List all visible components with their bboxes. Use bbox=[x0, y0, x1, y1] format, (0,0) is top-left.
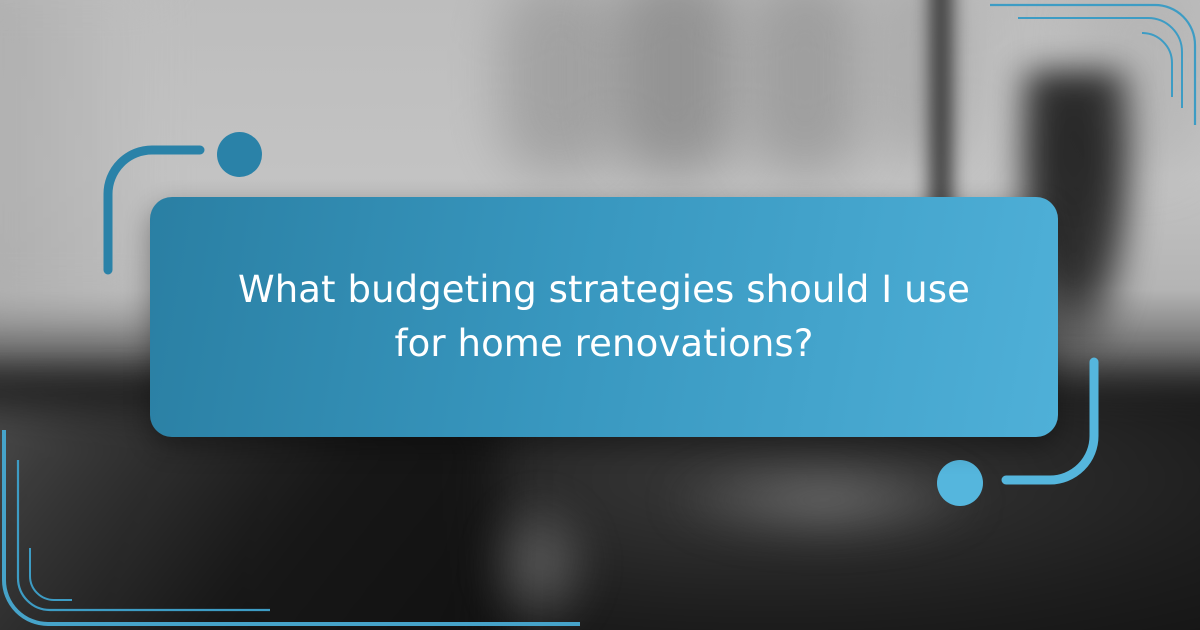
accent-dot-top-left bbox=[217, 132, 262, 177]
question-card[interactable]: What budgeting strategies should I use f… bbox=[150, 197, 1058, 437]
background-window-2 bbox=[610, 0, 740, 175]
background-window-3 bbox=[745, 0, 865, 175]
question-text: What budgeting strategies should I use f… bbox=[234, 263, 974, 370]
background-window-1 bbox=[500, 0, 620, 175]
background-left-wall bbox=[0, 0, 150, 310]
background-highlight-2 bbox=[480, 490, 600, 630]
social-card-canvas: What budgeting strategies should I use f… bbox=[0, 0, 1200, 630]
accent-dot-bottom-right bbox=[937, 460, 983, 506]
background-pillar bbox=[930, 0, 952, 220]
